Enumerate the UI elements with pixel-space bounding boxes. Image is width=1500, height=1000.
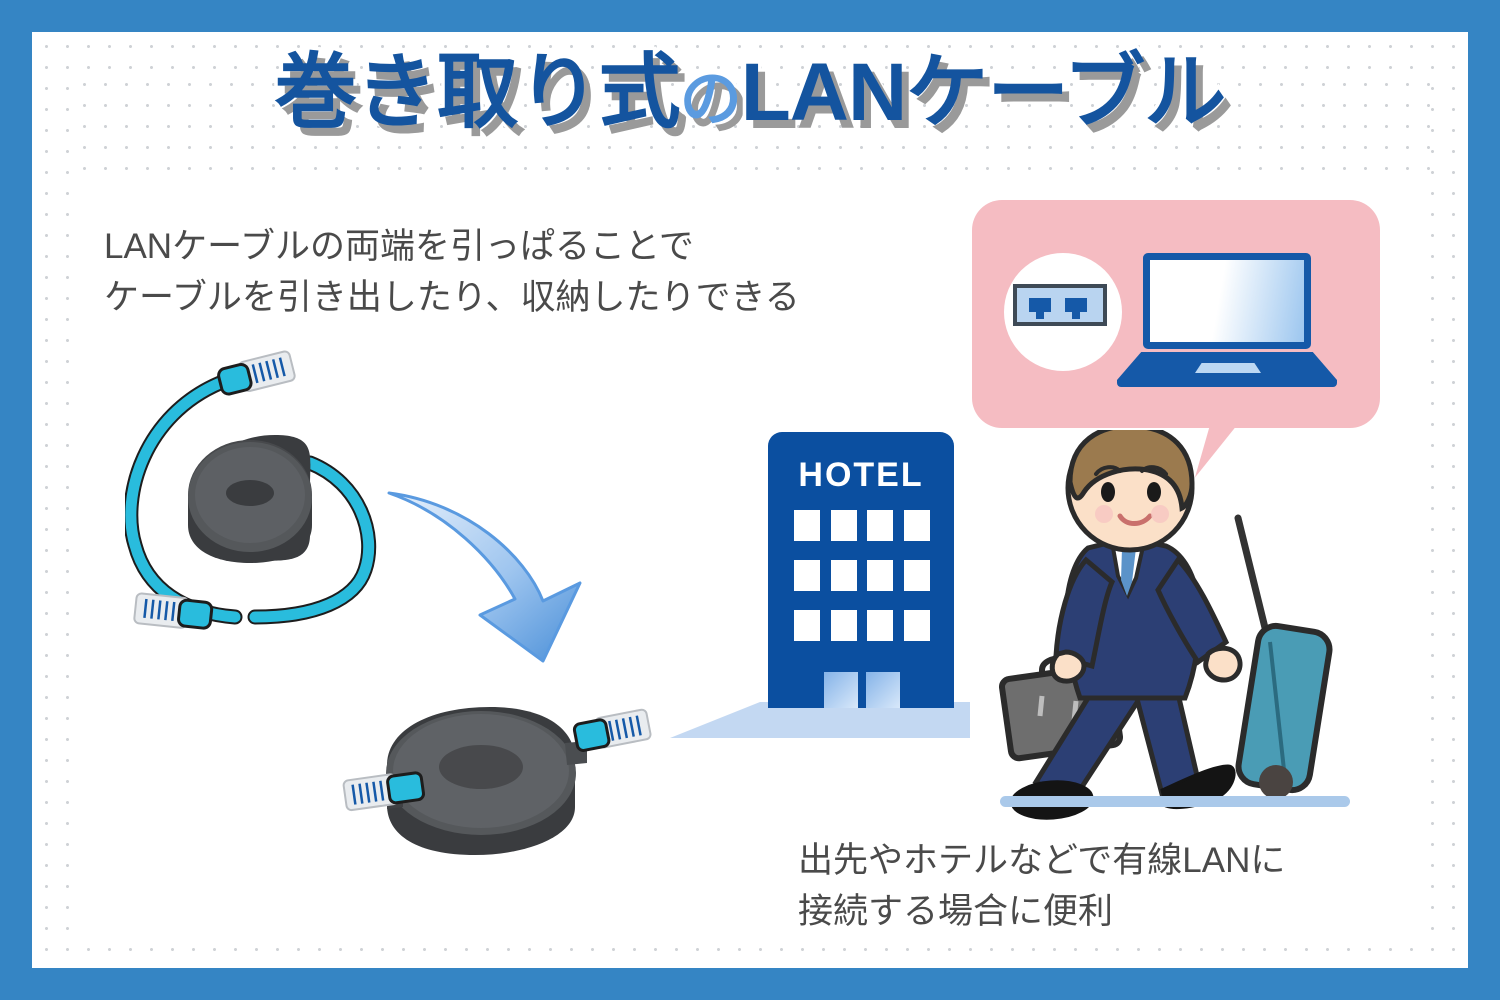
lan-port-icon: [1013, 284, 1107, 326]
title-part-1: 巻き取り式: [275, 47, 680, 138]
businessman-illustration: [980, 430, 1350, 825]
hotel-window: [867, 610, 893, 641]
hotel-window: [794, 510, 820, 541]
title-particle: の: [680, 65, 741, 134]
hotel-window: [904, 510, 930, 541]
rolling-suitcase: [1236, 518, 1332, 799]
hotel-window: [867, 510, 893, 541]
hotel-window-row: [794, 510, 930, 541]
hotel-door: [824, 672, 858, 708]
hotel-entrance: [824, 672, 900, 708]
laptop-screen-icon: [1143, 253, 1311, 349]
hotel-building: HOTEL: [660, 420, 1000, 740]
curved-down-arrow-icon: [375, 455, 615, 665]
description-bottom: 出先やホテルなどで有線LANに 接続する場合に便利: [798, 836, 1285, 938]
hotel-window: [831, 510, 857, 541]
rj45-jack: [1029, 298, 1051, 312]
hotel-window-row: [794, 610, 930, 641]
rj45-jack: [1065, 298, 1087, 312]
hotel-window: [867, 560, 893, 591]
ground-line: [1000, 796, 1350, 807]
poster-canvas: 巻き取り式のLANケーブル LANケーブルの両端を引っぱることで ケーブルを引き…: [0, 0, 1500, 1000]
title-part-2: LANケーブル: [741, 47, 1226, 138]
hotel-window: [904, 560, 930, 591]
hotel-window: [831, 610, 857, 641]
laptop-trackpad-icon: [1195, 363, 1261, 373]
laptop-foot-icon: [1117, 380, 1337, 387]
hotel-body: HOTEL: [768, 432, 954, 708]
hotel-window: [831, 560, 857, 591]
hotel-door: [866, 672, 900, 708]
hotel-window-row: [794, 560, 930, 591]
hotel-window: [904, 610, 930, 641]
hotel-sign-label: HOTEL: [768, 456, 954, 495]
hotel-window: [794, 610, 820, 641]
page-title: 巻き取り式のLANケーブル: [0, 48, 1500, 138]
retractable-cable-reel-retracted: [325, 695, 655, 865]
description-top: LANケーブルの両端を引っぱることで ケーブルを引き出したり、収納したりできる: [104, 222, 800, 324]
hotel-window: [794, 560, 820, 591]
